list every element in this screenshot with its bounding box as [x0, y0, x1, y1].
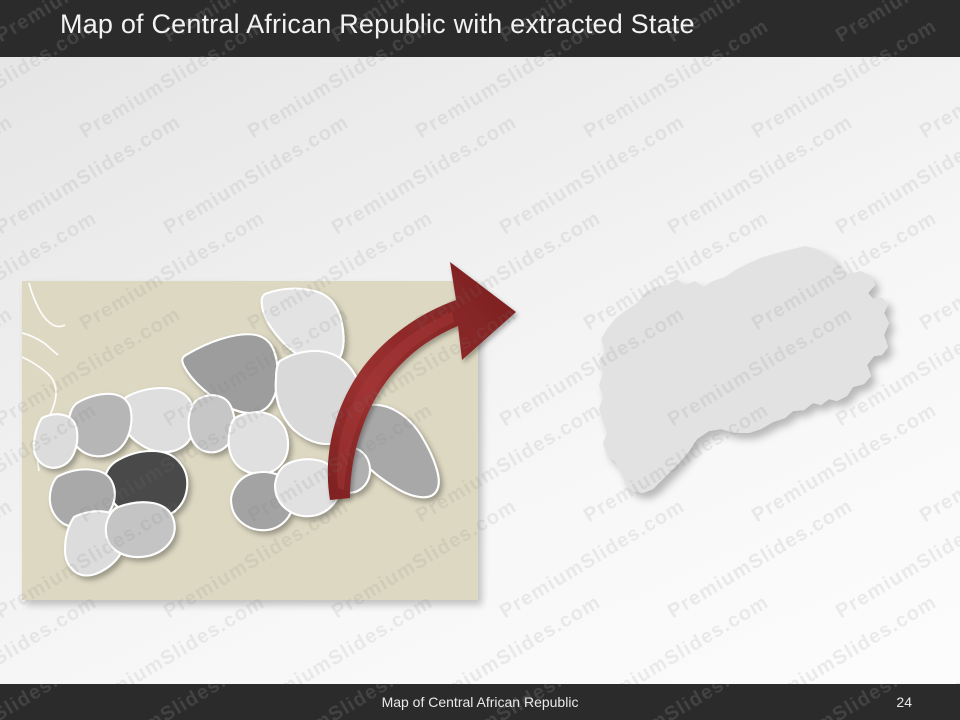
- region-ouham-pende[interactable]: [69, 394, 132, 456]
- watermark-text: PremiumSlides.com: [160, 111, 353, 240]
- footer-title: Map of Central African Republic: [0, 694, 960, 710]
- region-lobaye[interactable]: [106, 502, 175, 557]
- region-mambere-kadei[interactable]: [34, 414, 78, 468]
- watermark-text: PremiumSlides.com: [916, 15, 960, 57]
- watermark-text: PremiumSlides.com: [0, 111, 17, 240]
- region-east-lobe[interactable]: [331, 447, 370, 492]
- page-number: 24: [896, 694, 912, 710]
- slide-canvas: PremiumSlides.comPremiumSlides.comPremiu…: [0, 0, 960, 720]
- watermark-text: PremiumSlides.com: [0, 0, 17, 48]
- region-nana-grebizi[interactable]: [189, 395, 235, 452]
- watermark-text: PremiumSlides.com: [0, 495, 17, 624]
- extracted-state-path[interactable]: [599, 246, 889, 493]
- watermark-text: PremiumSlides.com: [916, 399, 960, 528]
- watermark-text: PremiumSlides.com: [328, 111, 521, 240]
- watermark-text: PremiumSlides.com: [832, 0, 960, 48]
- page-title: Map of Central African Republic with ext…: [60, 9, 695, 40]
- watermark-text: PremiumSlides.com: [832, 111, 960, 240]
- header-bar: PremiumSlides.comPremiumSlides.comPremiu…: [0, 0, 960, 57]
- watermark-text: PremiumSlides.com: [664, 111, 857, 240]
- footer-bar: PremiumSlides.comPremiumSlides.comPremiu…: [0, 684, 960, 720]
- watermark-text: PremiumSlides.com: [748, 15, 941, 57]
- region-ouaka[interactable]: [229, 412, 288, 474]
- watermark-text: PremiumSlides.com: [0, 303, 17, 432]
- watermark-text: PremiumSlides.com: [496, 111, 689, 240]
- extracted-state-shape[interactable]: [585, 243, 915, 523]
- watermark-text: PremiumSlides.com: [0, 111, 185, 240]
- central-african-republic-map[interactable]: [22, 281, 478, 600]
- map-panel[interactable]: [22, 281, 478, 600]
- watermark-text: PremiumSlides.com: [916, 207, 960, 336]
